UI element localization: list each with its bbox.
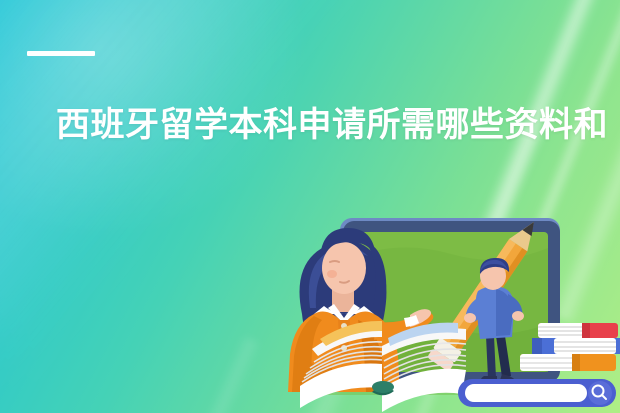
book-orange bbox=[520, 354, 616, 371]
promo-banner: 西班牙留学本科申请所需哪些资料和 bbox=[0, 0, 620, 413]
search-bar[interactable] bbox=[458, 379, 616, 407]
page-title: 西班牙留学本科申请所需哪些资料和 bbox=[56, 102, 620, 148]
study-education-illustration bbox=[280, 196, 620, 413]
book-blue bbox=[532, 338, 620, 354]
accent-rule bbox=[27, 51, 95, 56]
book-red bbox=[538, 323, 618, 338]
